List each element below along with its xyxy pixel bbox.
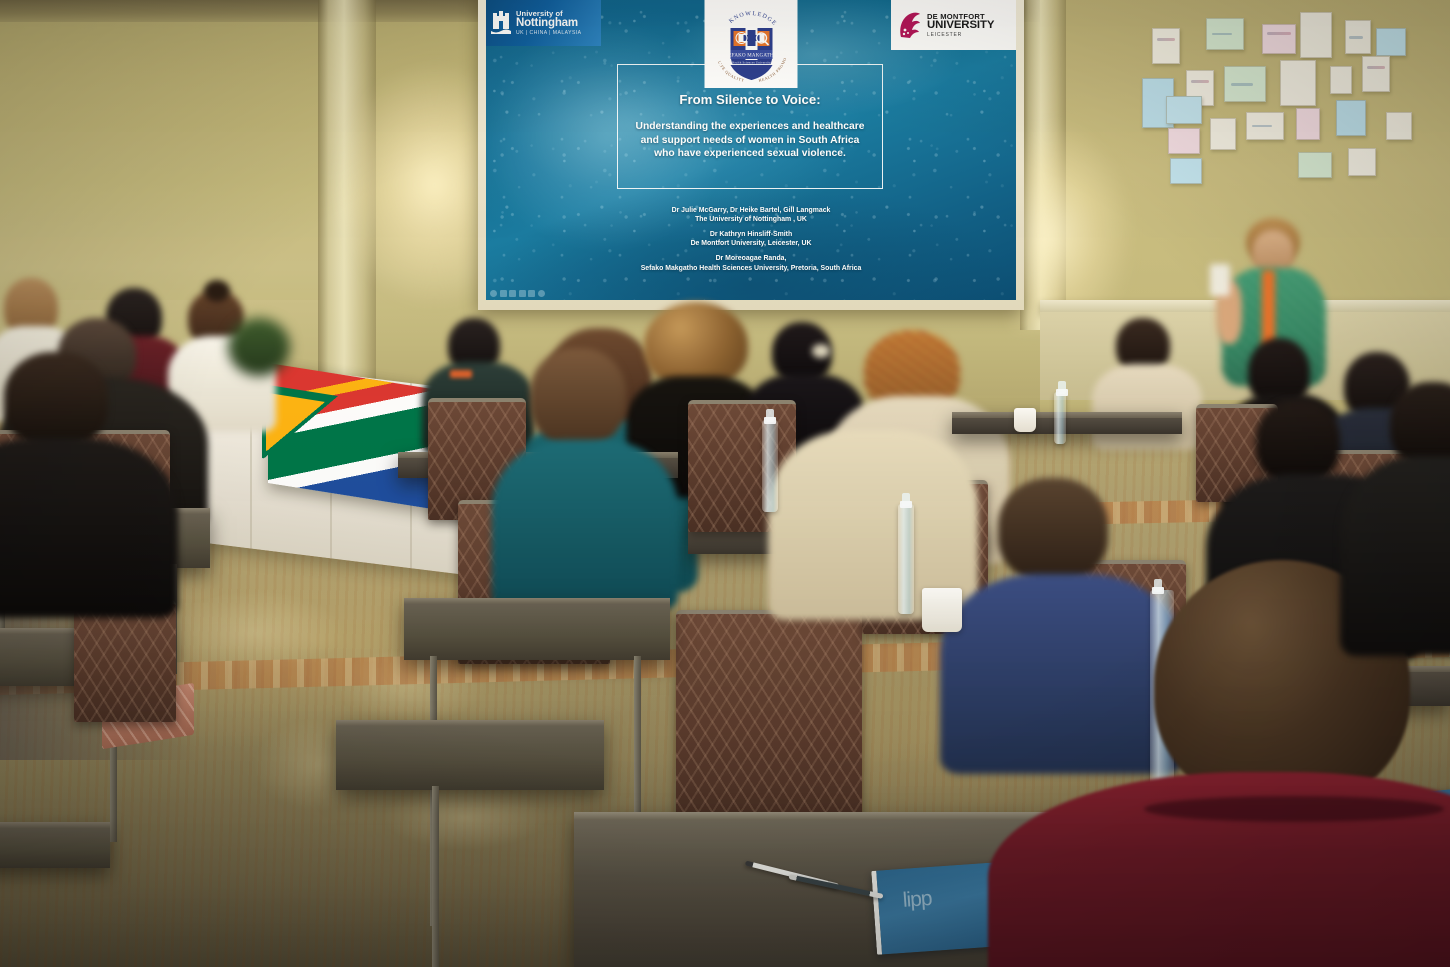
author-affiliation: Sefako Makgatho Health Sciences Universi… (486, 264, 1016, 273)
wall-poster (1262, 24, 1296, 54)
delegate-table (952, 412, 1182, 434)
university-of-nottingham-logo: University of Nottingham UK | CHINA | MA… (486, 0, 601, 46)
wall-poster (1298, 152, 1332, 178)
next-slide-icon[interactable] (500, 290, 507, 297)
notepad-brand: lipp (902, 887, 932, 913)
wall-poster (1362, 56, 1390, 92)
wall-poster (1246, 112, 1284, 140)
author-affiliation: De Montfort University, Leicester, UK (486, 239, 1016, 248)
present-icon[interactable] (528, 290, 535, 297)
presenter-lanyard (1262, 270, 1275, 348)
wall-sconce-glow-right (1012, 120, 1132, 330)
head-table-plant (228, 318, 290, 376)
svg-text:KNOWLEDGE: KNOWLEDGE (728, 11, 777, 27)
dmu-line2: UNIVERSITY (927, 20, 994, 31)
wine-glass (1036, 507, 1066, 543)
dmu-line3: LEICESTER (927, 33, 994, 38)
wall-poster (1300, 12, 1332, 58)
slide-subtitle-line-3: who have experienced sexual violence. (636, 147, 865, 161)
water-bottle (898, 504, 914, 614)
slide-subtitle-line-2: and support needs of women in South Afri… (636, 134, 865, 148)
water-bottle (762, 420, 778, 512)
de-montfort-university-logo: DE MONTFORT UNIVERSITY LEICESTER (891, 0, 1016, 50)
author-group: Dr Moreoagae Randa, Sefako Makgatho Heal… (486, 254, 1016, 272)
more-options-icon[interactable] (538, 290, 545, 297)
wall-poster (1348, 148, 1376, 176)
wall-poster (1170, 158, 1202, 184)
author-group: Dr Julie McGarry, Dr Heike Bartel, Gill … (486, 206, 1016, 224)
slide-title: From Silence to Voice: (679, 92, 820, 107)
author-names: Dr Kathryn Hinsliff-Smith (486, 230, 1016, 239)
nottingham-campuses: UK | CHINA | MALAYSIA (516, 31, 582, 36)
conference-room-photo: University of Nottingham UK | CHINA | MA… (0, 0, 1450, 967)
wall-poster (1296, 108, 1320, 140)
slide-presenter-toolbar[interactable] (490, 290, 545, 297)
wall-poster (1206, 18, 1244, 50)
slide-subtitle-line-1: Understanding the experiences and health… (636, 120, 865, 134)
wall-poster (1345, 20, 1371, 54)
slide-authors: Dr Julie McGarry, Dr Heike Bartel, Gill … (486, 206, 1016, 279)
wall-poster (1152, 28, 1180, 64)
author-names: Dr Julie McGarry, Dr Heike Bartel, Gill … (486, 206, 1016, 215)
author-affiliation: The University of Nottingham , UK (486, 215, 1016, 224)
play-icon[interactable] (490, 290, 497, 297)
author-names: Dr Moreoagae Randa, (486, 254, 1016, 263)
wall-poster (1224, 66, 1266, 102)
slide-subtitle: Understanding the experiences and health… (636, 120, 865, 162)
presenter-notes (1210, 264, 1230, 296)
foreground-table (404, 598, 670, 660)
author-group: Dr Kathryn Hinsliff-Smith De Montfort Un… (486, 230, 1016, 248)
wall-poster (1280, 60, 1316, 106)
foreground-table (0, 822, 110, 868)
slide-title-box: From Silence to Voice: Understanding the… (617, 64, 883, 189)
wall-poster (1166, 96, 1202, 124)
presentation-slide[interactable]: University of Nottingham UK | CHINA | MA… (486, 0, 1016, 300)
wine-glass (1296, 517, 1330, 557)
dmu-lion-icon (897, 10, 923, 40)
nottingham-line2: Nottingham (516, 18, 582, 30)
pen-icon[interactable] (509, 290, 516, 297)
empty-chair (74, 600, 176, 722)
foreground-table (336, 720, 604, 790)
wall-poster (1168, 128, 1200, 154)
wall-poster (1386, 112, 1412, 140)
delegate-chair (676, 610, 862, 824)
wine-glass (729, 534, 762, 573)
wall-poster (1210, 118, 1236, 150)
coffee-cup (922, 588, 962, 632)
wall-poster (1330, 66, 1352, 94)
nottingham-castle-icon (491, 10, 511, 36)
svg-text:SEFAKO MAKGATHO: SEFAKO MAKGATHO (725, 54, 777, 59)
water-bottle (1054, 392, 1066, 444)
coffee-cup (1014, 408, 1036, 432)
grid-icon[interactable] (519, 290, 526, 297)
wall-poster (1376, 28, 1406, 56)
wall-poster (1336, 100, 1366, 136)
wine-glass (908, 702, 977, 785)
